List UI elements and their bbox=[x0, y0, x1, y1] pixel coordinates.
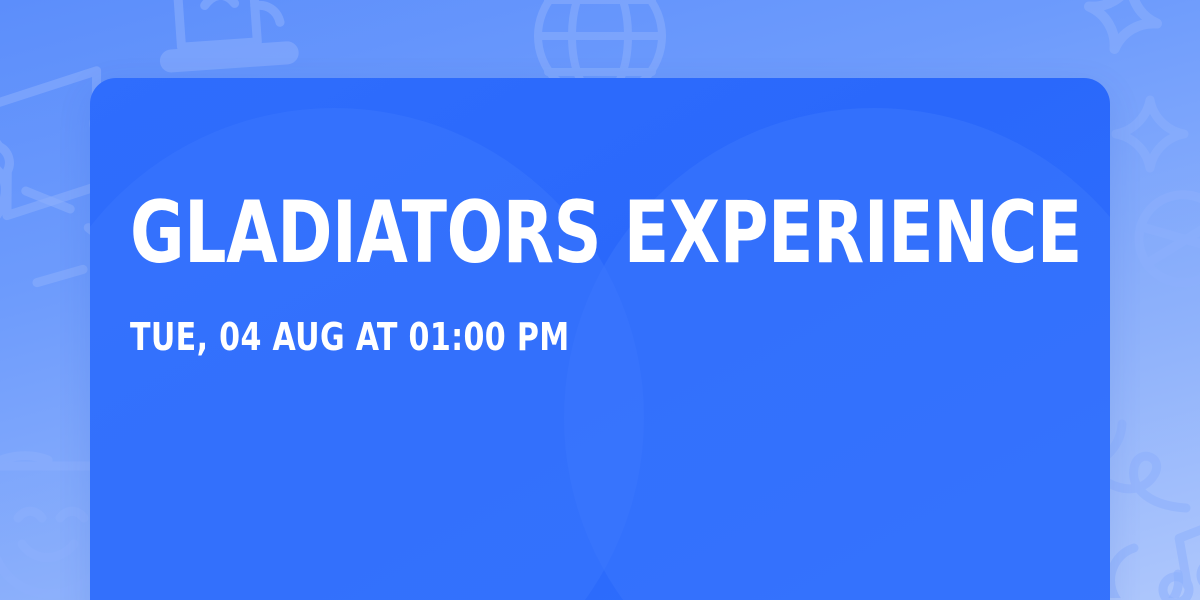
sparkle-icon bbox=[1108, 92, 1192, 176]
event-title: GLADIATORS EXPERIENCE bbox=[130, 190, 938, 276]
confetti-icon bbox=[17, 181, 79, 218]
event-card[interactable]: GLADIATORS EXPERIENCE TUE, 04 AUG AT 01:… bbox=[90, 78, 1110, 600]
event-card-content: GLADIATORS EXPERIENCE TUE, 04 AUG AT 01:… bbox=[130, 190, 1070, 356]
music-note-icon bbox=[1143, 513, 1200, 600]
sparkle-icon bbox=[1068, 0, 1177, 70]
laptop-icon bbox=[148, 0, 306, 89]
event-datetime: TUE, 04 AUG AT 01:00 PM bbox=[130, 318, 957, 356]
event-poster: GLADIATORS EXPERIENCE TUE, 04 AUG AT 01:… bbox=[0, 0, 1200, 600]
confetti-icon bbox=[29, 260, 91, 292]
balloon-icon bbox=[1102, 167, 1200, 347]
